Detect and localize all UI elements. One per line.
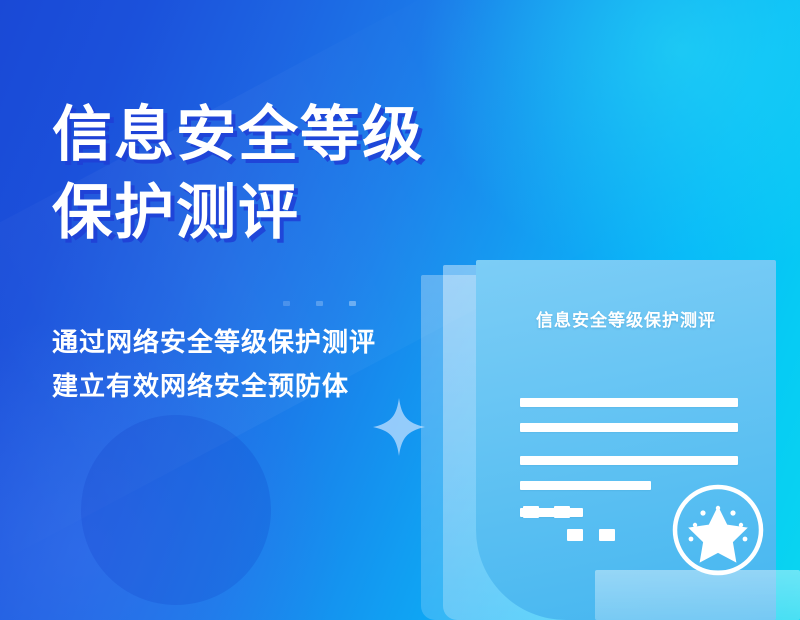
certificate-illustration: 信息安全等级保护测评 (418, 256, 800, 620)
certificate-chip (523, 506, 539, 518)
certificate-chip (554, 506, 570, 518)
certificate-chip (599, 529, 615, 541)
page-title-line-2: 保护测评 (52, 174, 572, 252)
certificate-title: 信息安全等级保护测评 (476, 306, 776, 331)
sparkle-dot (283, 301, 290, 306)
page-subtitle: 通过网络安全等级保护测评 建立有效网络安全预防体 (52, 320, 472, 408)
certificate-line (520, 423, 738, 432)
page-title-line-1: 信息安全等级 (52, 96, 572, 174)
page-subtitle-line-1: 通过网络安全等级保护测评 (52, 320, 472, 364)
certificate-line (520, 481, 651, 490)
star-seal-icon (670, 482, 766, 578)
certificate-chip (567, 529, 583, 541)
promo-banner: 信息安全等级 保护测评 通过网络安全等级保护测评 建立有效网络安全预防体 信息安… (0, 0, 800, 620)
page-title: 信息安全等级 保护测评 (52, 96, 572, 252)
certificate-line (520, 398, 738, 407)
sparkle-dot (316, 301, 323, 306)
certificate-line (520, 456, 738, 465)
background-circle-icon (81, 415, 271, 605)
certificate-line-gap (520, 448, 738, 456)
sparkle-dot (349, 301, 356, 306)
sparkle-dots-icon (283, 301, 373, 309)
